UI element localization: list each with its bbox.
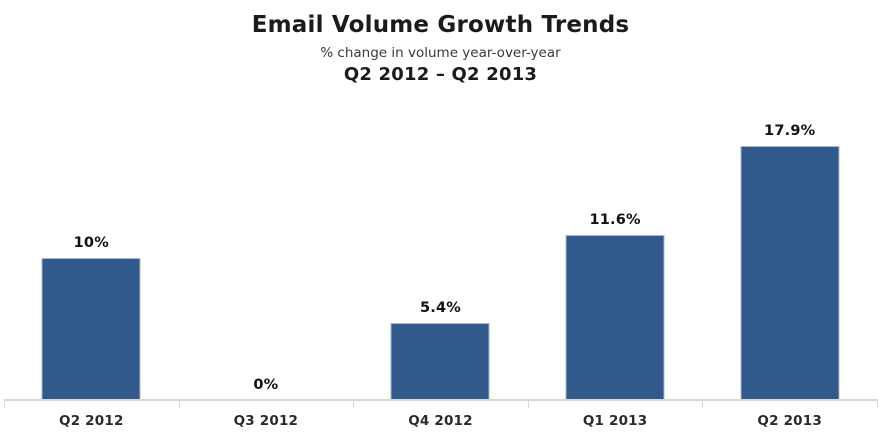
x-axis-category-labels: Q2 2012Q3 2012Q4 2012Q1 2013Q2 2013	[4, 408, 877, 439]
axis-tick-end	[877, 399, 878, 408]
chart-title-block: Email Volume Growth Trends % change in v…	[0, 12, 881, 87]
bar-group: 10%	[4, 110, 179, 400]
bar-group: 0%	[179, 110, 354, 400]
axis-tick	[528, 399, 529, 408]
bar-group: 11.6%	[528, 110, 703, 400]
bar-value-label: 5.4%	[420, 300, 461, 316]
bar-group: 17.9%	[702, 110, 877, 400]
chart-container: Email Volume Growth Trends % change in v…	[0, 0, 881, 439]
bar-value-label: 10%	[74, 235, 109, 251]
axis-tick	[179, 399, 180, 408]
chart-date-range: Q2 2012 – Q2 2013	[0, 64, 881, 87]
x-axis-label-q2-2013: Q2 2013	[702, 413, 877, 429]
bar[interactable]	[740, 146, 839, 400]
bar[interactable]	[391, 323, 490, 400]
x-axis-label-q2-2012: Q2 2012	[4, 413, 179, 429]
axis-tick	[702, 399, 703, 408]
bar-value-label: 11.6%	[589, 212, 640, 228]
axis-tick	[353, 399, 354, 408]
axis-tick-end	[4, 399, 5, 408]
x-axis-label-q1-2013: Q1 2013	[528, 413, 703, 429]
x-axis-line	[4, 399, 877, 401]
bar-value-label: 0%	[253, 377, 278, 393]
chart-title: Email Volume Growth Trends	[0, 12, 881, 39]
bar-value-label: 17.9%	[764, 123, 815, 139]
x-axis-label-q3-2012: Q3 2012	[179, 413, 354, 429]
bar[interactable]	[566, 235, 665, 400]
chart-subtitle: % change in volume year-over-year	[0, 43, 881, 63]
bar[interactable]	[42, 258, 141, 400]
bar-group: 5.4%	[353, 110, 528, 400]
plot-area: 10%0%5.4%11.6%17.9%	[4, 110, 877, 400]
x-axis-label-q4-2012: Q4 2012	[353, 413, 528, 429]
